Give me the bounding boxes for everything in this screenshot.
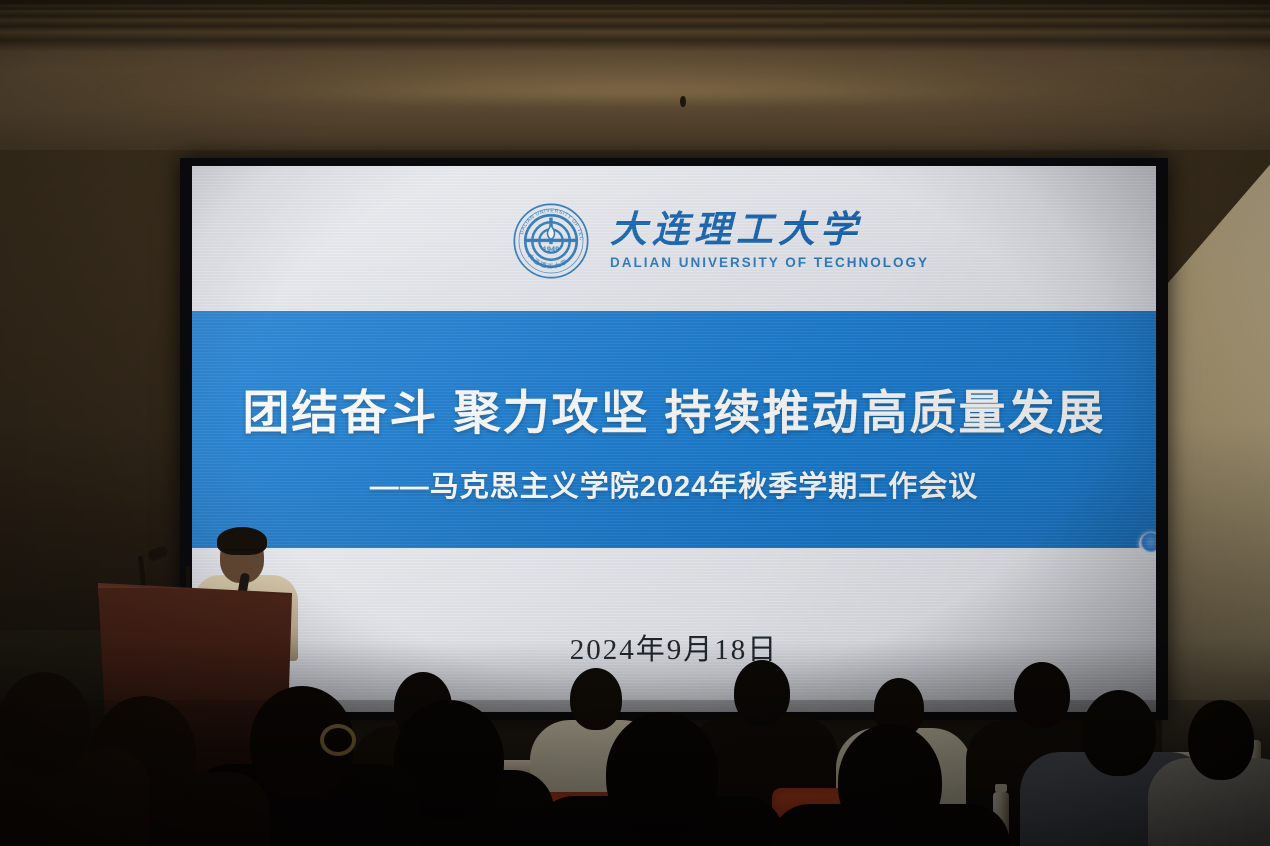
- slide-footer-area: 2024年9月18日: [192, 548, 1156, 712]
- photo-canvas: 1949 DALIAN UNIVERSITY OF TECHNOLOGY 大连理…: [0, 0, 1270, 846]
- slide-title: 团结奋斗 聚力攻坚 持续推动高质量发展: [242, 374, 1105, 443]
- projection-screen[interactable]: 1949 DALIAN UNIVERSITY OF TECHNOLOGY 大连理…: [192, 166, 1156, 712]
- attendee-head: [606, 712, 718, 836]
- ceiling-sensor-icon: [680, 96, 686, 107]
- attendee-head: [1188, 700, 1254, 780]
- university-branding: 1949 DALIAN UNIVERSITY OF TECHNOLOGY 大连理…: [512, 202, 929, 280]
- attendee-head: [570, 668, 622, 730]
- slide-header-area: 1949 DALIAN UNIVERSITY OF TECHNOLOGY 大连理…: [192, 166, 1156, 311]
- wordmark-english: DALIAN UNIVERSITY OF TECHNOLOGY: [610, 256, 929, 270]
- slide-title-band: 团结奋斗 聚力攻坚 持续推动高质量发展 ——马克思主义学院2024年秋季学期工作…: [192, 311, 1156, 548]
- presenter-glasses-icon: [224, 549, 260, 559]
- svg-text:1949: 1949: [543, 245, 559, 254]
- slide-subtitle: ——马克思主义学院2024年秋季学期工作会议: [370, 463, 979, 505]
- attendee-head: [734, 660, 790, 726]
- attendee-head: [0, 672, 90, 776]
- attendee-head: [1082, 690, 1156, 776]
- attendee-head: [1014, 662, 1070, 728]
- wordmark-chinese: 大连理工大学: [610, 212, 929, 249]
- hair-clip-icon: [320, 724, 356, 756]
- pointer-cursor-icon[interactable]: [1139, 532, 1156, 556]
- attendee-head: [838, 724, 942, 840]
- university-crest-icon: 1949 DALIAN UNIVERSITY OF TECHNOLOGY 大连理…: [512, 202, 590, 280]
- water-bottle-cap: [995, 784, 1007, 792]
- slide-date: 2024年9月18日: [192, 626, 1156, 668]
- ceiling-cove-light: [0, 40, 1270, 100]
- university-wordmark: 大连理工大学 DALIAN UNIVERSITY OF TECHNOLOGY: [610, 212, 929, 270]
